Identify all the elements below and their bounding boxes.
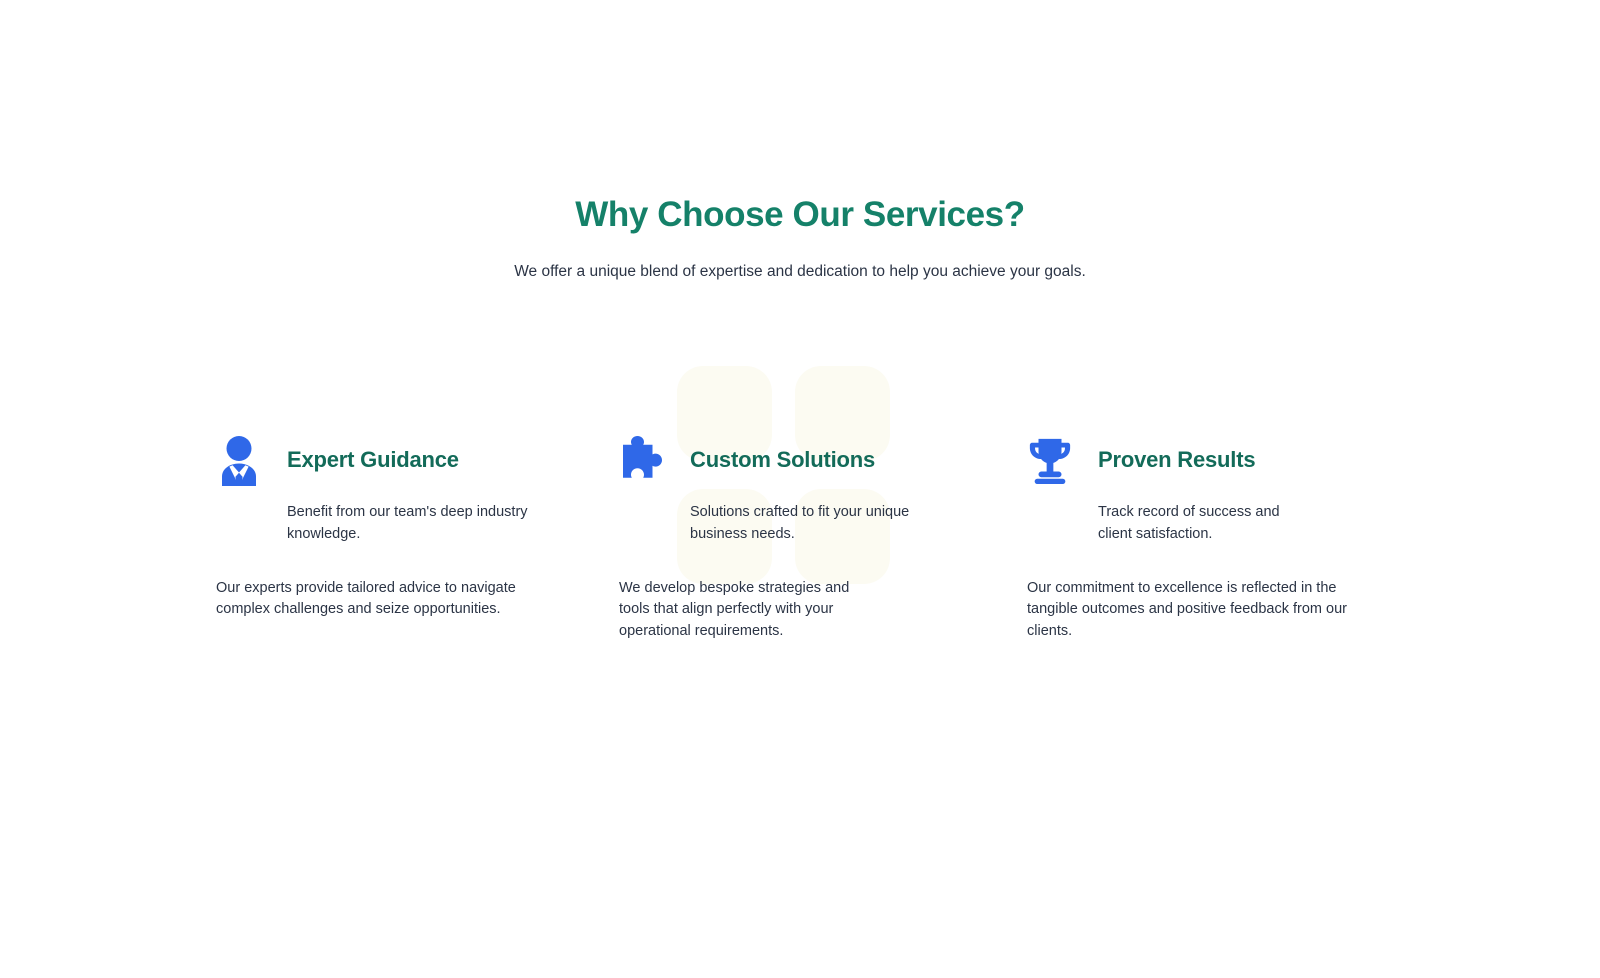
card-title: Custom Solutions (690, 447, 875, 473)
puzzle-piece-icon (619, 434, 665, 486)
feature-card-custom-solutions: Custom Solutions Solutions crafted to fi… (619, 432, 959, 642)
page-title: Why Choose Our Services? (0, 193, 1600, 237)
card-title: Expert Guidance (287, 447, 459, 473)
feature-card-expert-guidance: Expert Guidance Benefit from our team's … (216, 432, 556, 621)
feature-card-proven-results: Proven Results Track record of success a… (1027, 432, 1367, 642)
card-tagline: Track record of success and client satis… (1098, 501, 1303, 545)
businessman-icon (216, 434, 262, 486)
card-description: Our commitment to excellence is reflecte… (1027, 578, 1349, 642)
page-subtitle: We offer a unique blend of expertise and… (0, 260, 1600, 283)
card-header: Expert Guidance (216, 432, 556, 488)
card-description: Our experts provide tailored advice to n… (216, 578, 534, 621)
card-description: We develop bespoke strategies and tools … (619, 578, 867, 642)
card-tagline: Benefit from our team's deep industry kn… (287, 501, 537, 545)
section-header: Why Choose Our Services? We offer a uniq… (0, 193, 1600, 283)
card-header: Custom Solutions (619, 432, 959, 488)
card-title: Proven Results (1098, 447, 1255, 473)
trophy-icon (1027, 434, 1073, 486)
card-tagline: Solutions crafted to fit your unique bus… (690, 501, 928, 545)
card-header: Proven Results (1027, 432, 1367, 488)
page-root: Why Choose Our Services? We offer a uniq… (0, 0, 1600, 978)
